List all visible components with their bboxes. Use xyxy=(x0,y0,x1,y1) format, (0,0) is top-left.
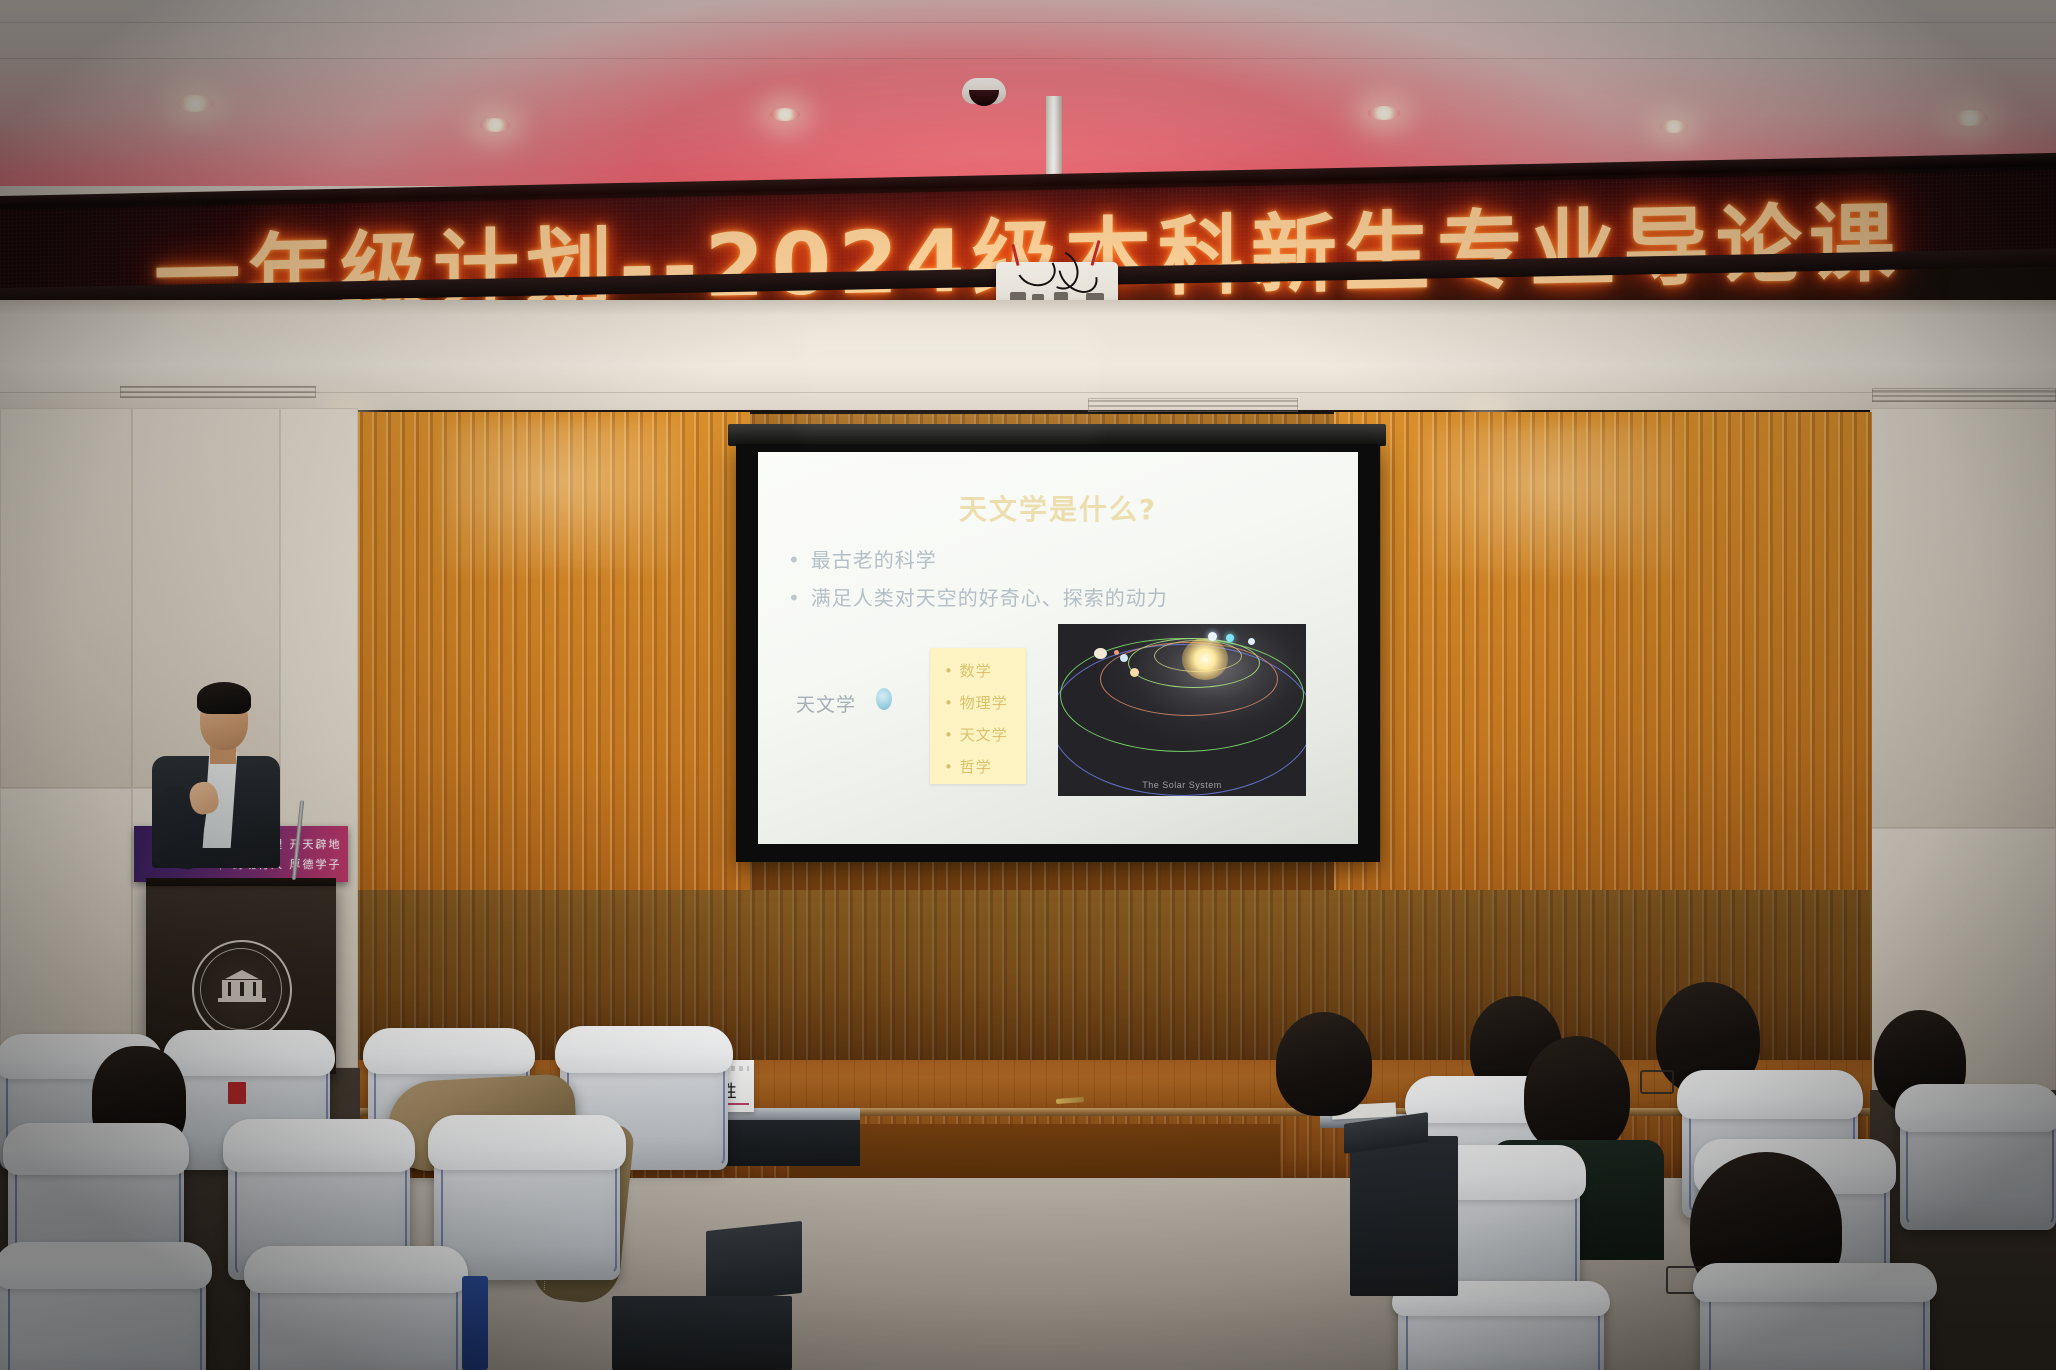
wall-panel-right-1 xyxy=(1870,408,2056,828)
slide-diagram-node xyxy=(876,688,892,710)
seat-drape xyxy=(244,1246,469,1294)
slide-note-item-3: 天文学 xyxy=(944,724,1008,745)
slide-note-item-1: 数学 xyxy=(944,660,992,681)
ceiling-vent-right xyxy=(1872,388,2056,402)
dome-camera xyxy=(962,78,1006,104)
audience-head-right-6 xyxy=(1276,1012,1372,1116)
lecture-hall-scene: 一年级计划--2024级本科新生专业导论课 天文学是什么? 最古老的科学 xyxy=(0,0,2056,1370)
downlight-1 xyxy=(176,95,214,112)
downlight-5 xyxy=(1660,120,1688,133)
seat-number-tag xyxy=(228,1082,246,1104)
slide-title: 天文学是什么? xyxy=(758,488,1358,528)
slide-diagram-label: 天文学 xyxy=(796,690,856,717)
seal-gate-column xyxy=(240,982,244,996)
planet-3 xyxy=(1248,638,1255,645)
seat-drape xyxy=(428,1115,625,1169)
seal-gate-column xyxy=(228,982,231,996)
solar-system-image: The Solar System xyxy=(1058,624,1306,796)
desk-panel-left xyxy=(612,1296,792,1370)
seat-drape xyxy=(555,1026,733,1074)
seat-right-back-3[interactable] xyxy=(1900,1088,2056,1230)
downlight-3 xyxy=(770,108,800,121)
ceiling-vent-left xyxy=(120,386,316,398)
seat-drape xyxy=(1693,1263,1937,1302)
seal-roof xyxy=(225,970,259,979)
downlight-4 xyxy=(1368,106,1400,120)
slide-note-box: 数学 物理学 天文学 哲学 xyxy=(930,648,1026,784)
planet-1 xyxy=(1208,632,1217,641)
glasses-right-2 xyxy=(1640,1070,1674,1094)
slide-bullet-2: 满足人类对天空的好奇心、探索的动力 xyxy=(788,582,1168,611)
downlight-2 xyxy=(480,118,510,132)
seat-right-front-2[interactable] xyxy=(1398,1284,1604,1370)
seat-drape xyxy=(363,1028,535,1074)
solar-system-caption: The Solar System xyxy=(1058,780,1306,790)
seat-drape xyxy=(1895,1084,2056,1132)
seat-left-front-1[interactable] xyxy=(0,1246,206,1370)
desk-panel-right xyxy=(1350,1136,1458,1296)
slide-note-item-4: 哲学 xyxy=(944,756,992,777)
university-seal xyxy=(192,940,292,1040)
slide-bullet-1: 最古老的科学 xyxy=(788,544,937,573)
planet-7 xyxy=(1114,650,1119,655)
ceiling-seam xyxy=(0,22,2056,23)
seat-drape xyxy=(0,1242,212,1290)
seat-drape xyxy=(163,1030,335,1076)
seal-gate-base xyxy=(218,998,266,1002)
ceiling-seam xyxy=(0,58,2056,59)
seat-right-front-1[interactable] xyxy=(1700,1266,1930,1370)
planet-2 xyxy=(1226,634,1234,642)
laptop-left xyxy=(706,1221,802,1303)
planet-6 xyxy=(1130,668,1139,677)
seat-drape xyxy=(1677,1070,1864,1119)
sun xyxy=(1182,638,1228,680)
seat-drape xyxy=(3,1123,190,1175)
planet-5 xyxy=(1120,654,1128,662)
wall-panel-left-1 xyxy=(0,408,132,788)
seat-drape xyxy=(223,1119,416,1172)
camera-lens xyxy=(969,90,999,106)
podium-lip xyxy=(146,878,336,886)
seat-left-front-2[interactable] xyxy=(250,1250,462,1370)
ceiling-vent-center xyxy=(1088,398,1298,412)
screen-housing xyxy=(728,424,1386,446)
downlight-6 xyxy=(1952,110,1988,126)
planet-4 xyxy=(1094,648,1107,659)
presenter-hair xyxy=(197,682,251,714)
slide-note-item-2: 物理学 xyxy=(944,692,1008,713)
wall-panel-left-3 xyxy=(0,788,132,1068)
audience-head-right-4 xyxy=(1524,1036,1630,1154)
seat-armrest-left xyxy=(462,1276,488,1370)
seal-gate-column xyxy=(253,982,256,996)
screen-surface: 天文学是什么? 最古老的科学 满足人类对天空的好奇心、探索的动力 天文学 数学 … xyxy=(758,452,1358,844)
